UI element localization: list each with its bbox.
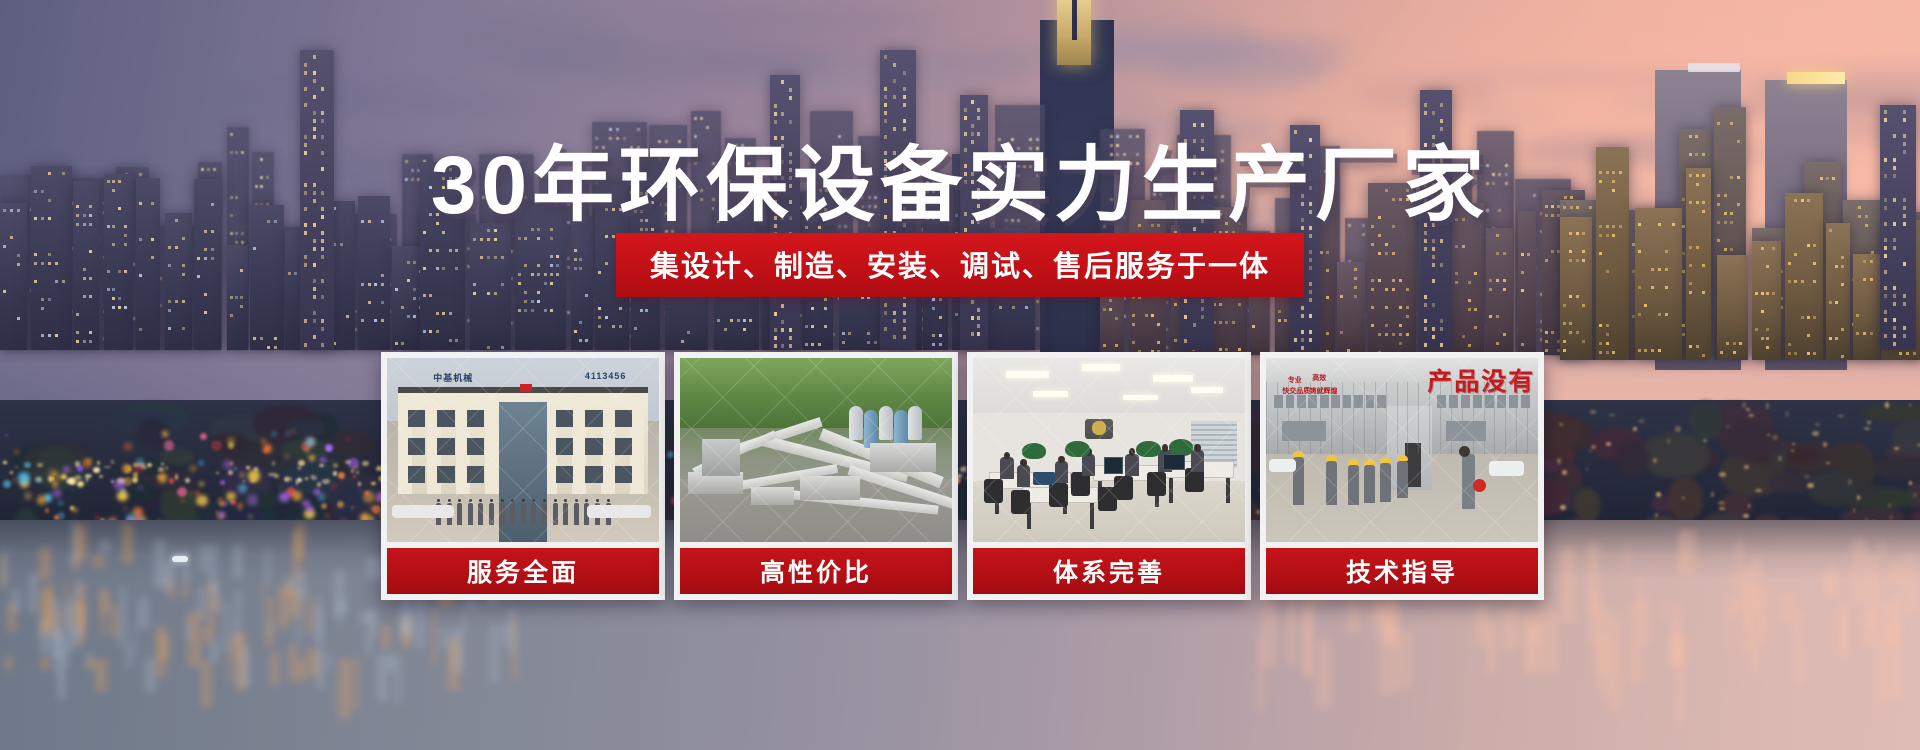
card-photo-headquarters: 中基机械 4113456 [387, 358, 659, 542]
building-phone-text: 4113456 [585, 371, 627, 381]
subtitle-text: 集设计、制造、安装、调试、售后服务于一体 [650, 251, 1270, 283]
card-label-service: 服务全面 [387, 548, 659, 594]
feature-card-guidance[interactable]: 产品没有 专业 高效 快交品质 铸就辉煌 技术指导 [1260, 352, 1544, 600]
feature-card-row: 中基机械 4113456 服务全面 高性价比 [381, 352, 1544, 600]
card-label-text: 高性价比 [760, 553, 872, 589]
page-title: 30年环保设备实力生产厂家 [0, 118, 1920, 237]
card-photo-plant [680, 358, 952, 542]
card-label-value: 高性价比 [680, 548, 952, 594]
card-photo-workers: 产品没有 专业 高效 快交品质 铸就辉煌 [1266, 358, 1538, 542]
hero-banner: 30年环保设备实力生产厂家 集设计、制造、安装、调试、售后服务于一体 中基机械 … [0, 0, 1920, 750]
building-sign-text: 中基机械 [433, 371, 473, 384]
flag-icon [520, 384, 532, 392]
card-label-system: 体系完善 [973, 548, 1245, 594]
wall-slogan-text: 产品没有 [1427, 362, 1535, 398]
card-label-guidance: 技术指导 [1266, 548, 1538, 594]
boat-icon [172, 556, 188, 562]
feature-card-value[interactable]: 高性价比 [674, 352, 958, 600]
card-label-text: 体系完善 [1053, 553, 1165, 589]
zifeng-tower-spire [1072, 0, 1077, 40]
subtitle-banner: 集设计、制造、安装、调试、售后服务于一体 [616, 233, 1304, 297]
card-label-text: 技术指导 [1346, 553, 1458, 589]
plaza-sign-icon [1787, 72, 1845, 84]
feature-card-service[interactable]: 中基机械 4113456 服务全面 [381, 352, 665, 600]
card-photo-office [973, 358, 1245, 542]
westin-sign-icon [1688, 63, 1740, 72]
wall-small-text-1: 专业 [1288, 375, 1302, 385]
wall-small-text-2: 高效 [1312, 373, 1326, 383]
feature-card-system[interactable]: 体系完善 [967, 352, 1251, 600]
card-label-text: 服务全面 [467, 553, 579, 589]
